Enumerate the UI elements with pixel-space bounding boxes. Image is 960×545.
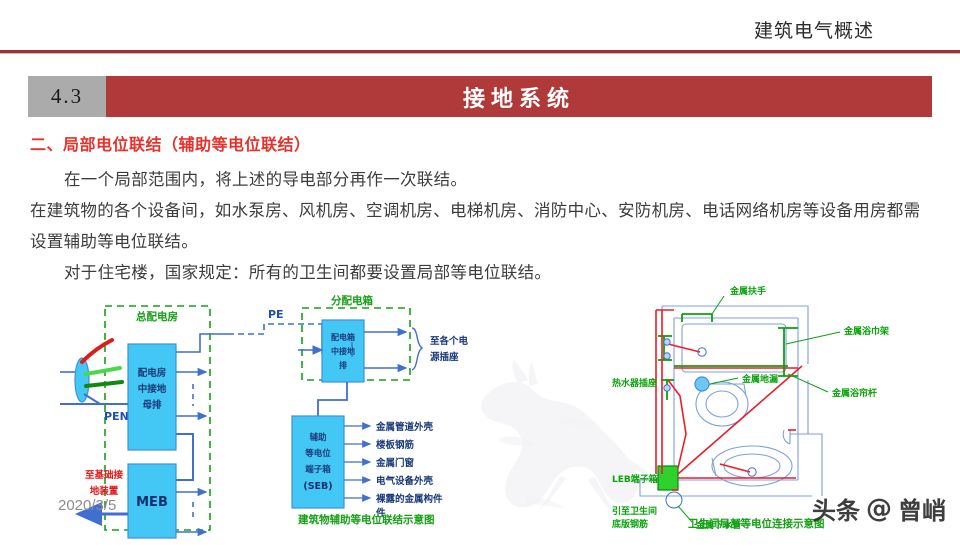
watermark-user: 曾峭 <box>898 491 946 526</box>
label-leb-box: LEB端子箱 <box>612 473 658 485</box>
diagram-right-caption: 卫生间局部等电位连接示意图 <box>688 516 825 531</box>
label-floor-drain: 金属地漏 <box>741 373 778 385</box>
header-divider-thin <box>0 53 960 54</box>
diagram-left-caption: 建筑物辅助等电位联结示意图 <box>298 512 435 527</box>
seb-output-4: 裸露的金属构件 <box>376 493 443 505</box>
svg-text:地装置: 地装置 <box>90 485 119 497</box>
svg-text:至各个电: 至各个电 <box>430 335 469 347</box>
svg-text:中接地: 中接地 <box>138 383 167 395</box>
date-stamp: 2020/3/5 <box>58 497 116 514</box>
body-heading: 二、局部电位联结（辅助等电位联结） <box>30 132 930 158</box>
svg-text:至基础接: 至基础接 <box>85 469 124 481</box>
label-pen: PEN <box>104 410 129 423</box>
page-title: 建筑电气概述 <box>754 16 874 43</box>
body-paragraph-2: 在建筑物的各个设备间，如水泵房、风机房、空调机房、电梯机房、消防中心、安防机房、… <box>30 195 930 257</box>
label-water-heater-socket: 热水器插座 <box>612 377 657 389</box>
slide-root: 建筑电气概述 4.3 接地系统 二、局部电位联结（辅助等电位联结） 在一个局部范… <box>0 0 960 540</box>
svg-text:排: 排 <box>339 360 347 370</box>
section-title: 接地系统 <box>106 76 932 117</box>
body-paragraph-1: 在一个局部范围内，将上述的导电部分再作一次联结。 <box>30 164 930 195</box>
label-shower-curtain-rod: 金属浴帘杆 <box>831 387 877 399</box>
svg-text:底版钢筋: 底版钢筋 <box>612 518 648 530</box>
seb-output-0: 金属管道外壳 <box>375 421 434 433</box>
label-pe: PE <box>268 308 284 321</box>
zone-main-label: 总配电房 <box>136 310 178 323</box>
zone-sub-label: 分配电箱 <box>331 294 373 307</box>
box-meb-label: MEB <box>136 495 168 510</box>
svg-text:端子箱: 端子箱 <box>305 464 331 475</box>
seb-output-2: 金属门窗 <box>375 457 415 469</box>
seb-output-3: 电气设备外壳 <box>376 475 434 487</box>
body-text: 二、局部电位联结（辅助等电位联结） 在一个局部范围内，将上述的导电部分再作一次联… <box>30 132 930 288</box>
watermark-at-icon: @ <box>866 494 892 524</box>
svg-text:源插座: 源插座 <box>430 351 459 363</box>
seb-output-1: 楼板钢筋 <box>376 439 415 451</box>
svg-text:辅助: 辅助 <box>309 432 327 443</box>
svg-text:引至卫生间: 引至卫生间 <box>612 505 657 517</box>
label-towel-rack: 金属浴巾架 <box>843 325 889 337</box>
label-handrail: 金属扶手 <box>729 285 766 297</box>
watermark-brand: 头条 <box>812 491 860 526</box>
section-number: 4.3 <box>28 76 106 117</box>
svg-text:(SEB): (SEB) <box>303 481 332 492</box>
svg-text:母排: 母排 <box>142 399 162 411</box>
svg-text:配电箱: 配电箱 <box>331 332 355 342</box>
watermark: 头条 @ 曾峭 <box>812 491 946 526</box>
svg-text:等电位: 等电位 <box>304 448 331 459</box>
svg-text:配电房: 配电房 <box>138 367 167 379</box>
section-bar: 4.3 接地系统 <box>28 76 932 117</box>
diagram-building-bonding: 总配电房 PEN 配电房 中接地 母排 MEB <box>60 292 480 540</box>
